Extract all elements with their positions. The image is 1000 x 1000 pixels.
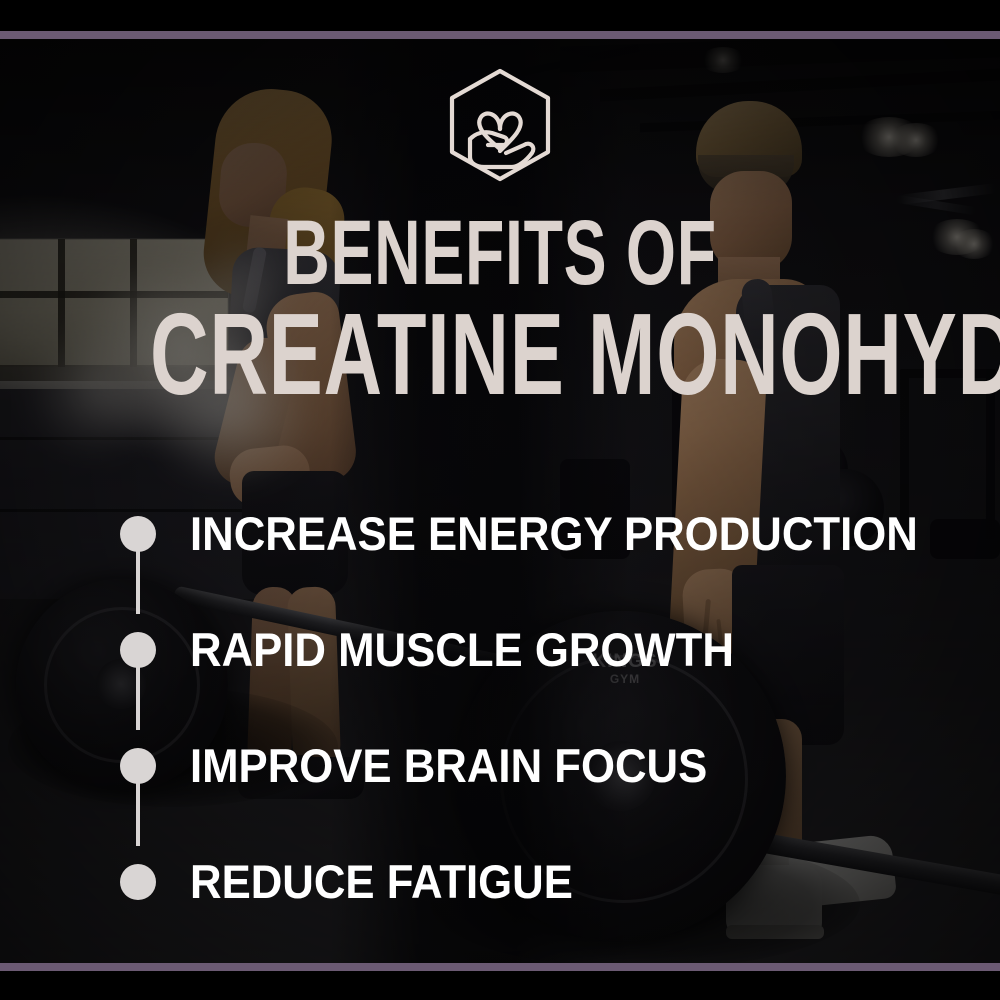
title-line-1: BENEFITS OF: [150, 213, 850, 294]
benefit-item: REDUCE FATIGUE: [120, 842, 1000, 958]
benefit-item: RAPID MUSCLE GROWTH: [120, 610, 1000, 726]
benefit-label: IMPROVE BRAIN FOCUS: [190, 742, 707, 789]
timeline-connector: [136, 650, 140, 730]
benefit-label: RAPID MUSCLE GROWTH: [190, 626, 734, 673]
gym-photo-stage: KINGS GYM BENEFITS OF CREATINE MONOHYDRA…: [0, 39, 1000, 963]
heart-in-hand-hexagon-icon: [436, 65, 564, 193]
top-accent-band: [0, 31, 1000, 39]
bottom-accent-band: [0, 963, 1000, 971]
poster-content: BENEFITS OF CREATINE MONOHYDRATE INCREAS…: [0, 39, 1000, 963]
timeline-marker: [120, 864, 156, 900]
creatine-benefits-poster: KINGS GYM BENEFITS OF CREATINE MONOHYDRA…: [0, 0, 1000, 1000]
benefit-label: REDUCE FATIGUE: [190, 858, 573, 905]
benefit-label: INCREASE ENERGY PRODUCTION: [190, 510, 918, 557]
poster-title: BENEFITS OF CREATINE MONOHYDRATE: [0, 213, 1000, 406]
benefit-item: IMPROVE BRAIN FOCUS: [120, 726, 1000, 842]
benefit-item: INCREASE ENERGY PRODUCTION: [120, 494, 1000, 610]
benefits-list: INCREASE ENERGY PRODUCTION RAPID MUSCLE …: [120, 494, 1000, 958]
timeline-connector: [136, 534, 140, 614]
timeline-connector: [136, 766, 140, 846]
title-line-2: CREATINE MONOHYDRATE: [150, 302, 850, 406]
